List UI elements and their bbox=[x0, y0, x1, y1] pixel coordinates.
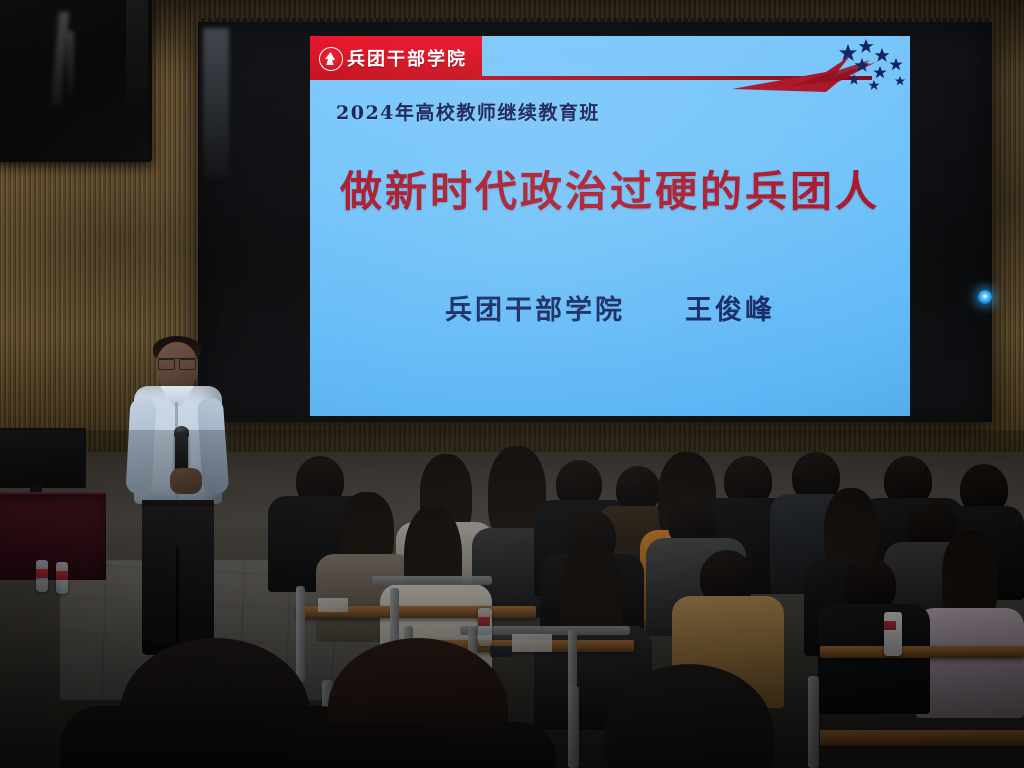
chair-leg bbox=[296, 586, 305, 682]
paper-sheet bbox=[318, 598, 348, 612]
glasses-icon bbox=[158, 358, 196, 368]
chair-leg bbox=[808, 676, 819, 768]
audience-body bbox=[818, 604, 930, 714]
desk-row bbox=[820, 730, 1024, 746]
paper-sheet bbox=[512, 634, 552, 652]
water-bottle-icon bbox=[478, 608, 492, 646]
desk-row bbox=[820, 646, 1024, 658]
academy-logo-text: 兵团干部学院 bbox=[347, 45, 467, 71]
slide-subtitle: 2024年高校教师继续教育班 bbox=[336, 98, 600, 125]
desk-frame bbox=[372, 576, 492, 585]
chair-leg bbox=[568, 686, 579, 768]
slide-main-title: 做新时代政治过硬的兵团人 bbox=[310, 158, 910, 219]
mobile-phone-icon bbox=[490, 646, 512, 657]
thermos-cup-icon bbox=[884, 612, 902, 656]
slide-header: 兵团干部学院 bbox=[310, 36, 910, 80]
power-led-indicator bbox=[978, 290, 992, 304]
audience-body bbox=[916, 608, 1024, 718]
star-swoosh-icon bbox=[730, 36, 910, 92]
bezel-glare bbox=[203, 28, 229, 178]
wall-panel-dark-strip bbox=[126, 0, 148, 120]
lecture-hall-scene: 兵团干部学院 2024年高校教师继续教育班 做新时代政治过硬的兵团人 bbox=[0, 0, 1024, 768]
screen-glare-secondary bbox=[67, 31, 74, 95]
slide-presenter-line: 兵团干部学院 王俊峰 bbox=[310, 288, 910, 327]
presentation-slide: 兵团干部学院 2024年高校教师继续教育班 做新时代政治过硬的兵团人 bbox=[310, 36, 910, 416]
academy-emblem-icon bbox=[319, 47, 343, 71]
header-red-rule bbox=[482, 76, 872, 80]
slide-light-vignette bbox=[310, 36, 910, 416]
foreground-person-shoulders bbox=[286, 722, 556, 768]
